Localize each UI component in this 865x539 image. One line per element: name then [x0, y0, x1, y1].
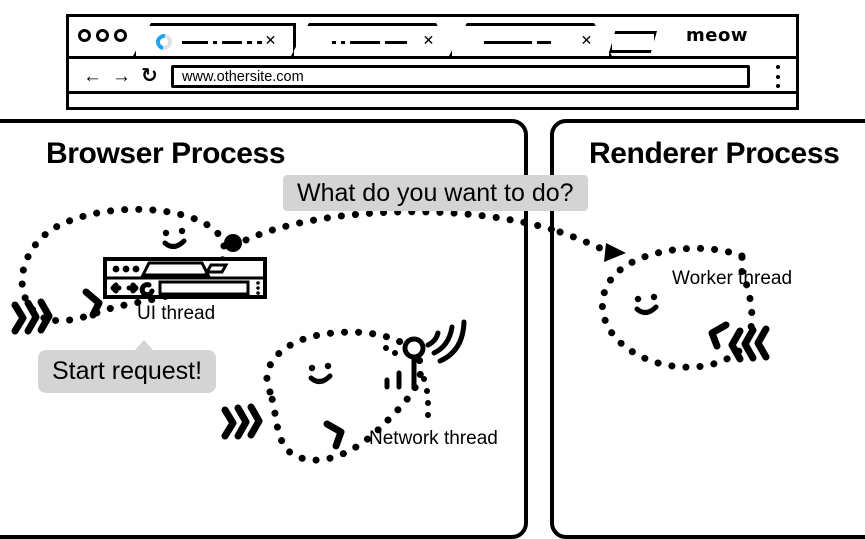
browser-tab-3[interactable] [449, 23, 612, 56]
loading-spinner-icon [153, 31, 175, 53]
tab-1-title-scribble [182, 41, 262, 44]
browser-tab-2[interactable] [291, 23, 454, 56]
window-dot-2[interactable] [96, 29, 109, 42]
renderer-process-title: Renderer Process [589, 137, 839, 171]
diagram-canvas: meow ← → ↻ www.othersite.com Browser Pro… [0, 0, 865, 504]
page-viewport [69, 94, 796, 107]
kebab-dot-2 [776, 75, 780, 79]
network-thread-label: Network thread [369, 428, 498, 450]
tab-2-title-scribble [332, 41, 407, 44]
forward-arrow-icon[interactable]: → [112, 67, 131, 86]
tab-1-close-icon[interactable] [264, 34, 277, 47]
window-dot-1[interactable] [78, 29, 91, 42]
reload-icon[interactable]: ↻ [141, 67, 158, 86]
window-control-dots[interactable] [78, 29, 127, 42]
kebab-dot-1 [776, 65, 780, 69]
tab-3-close-icon[interactable] [580, 34, 593, 47]
tab-2-close-icon[interactable] [422, 34, 435, 47]
kebab-dot-3 [776, 84, 780, 88]
window-dot-3[interactable] [114, 29, 127, 42]
speech-bubble-start-request: Start request! [38, 350, 216, 393]
browser-tab-1[interactable] [133, 23, 296, 56]
renderer-process-box: Renderer Process [550, 119, 865, 539]
tab-strip: meow [69, 17, 796, 59]
speech-bubble-what-do-you-want: What do you want to do? [283, 175, 588, 211]
new-tab-button[interactable] [609, 31, 657, 53]
kebab-menu-icon[interactable] [775, 65, 780, 88]
worker-thread-label: Worker thread [672, 268, 792, 290]
back-arrow-icon[interactable]: ← [83, 67, 102, 86]
address-bar-input[interactable]: www.othersite.com [171, 65, 750, 88]
ui-thread-label: UI thread [137, 303, 215, 325]
tab-3-title-scribble [484, 41, 551, 44]
browser-process-title: Browser Process [46, 137, 285, 171]
brand-label: meow [686, 25, 748, 46]
navigation-bar: ← → ↻ www.othersite.com [69, 59, 796, 94]
browser-window: meow ← → ↻ www.othersite.com [66, 14, 799, 110]
